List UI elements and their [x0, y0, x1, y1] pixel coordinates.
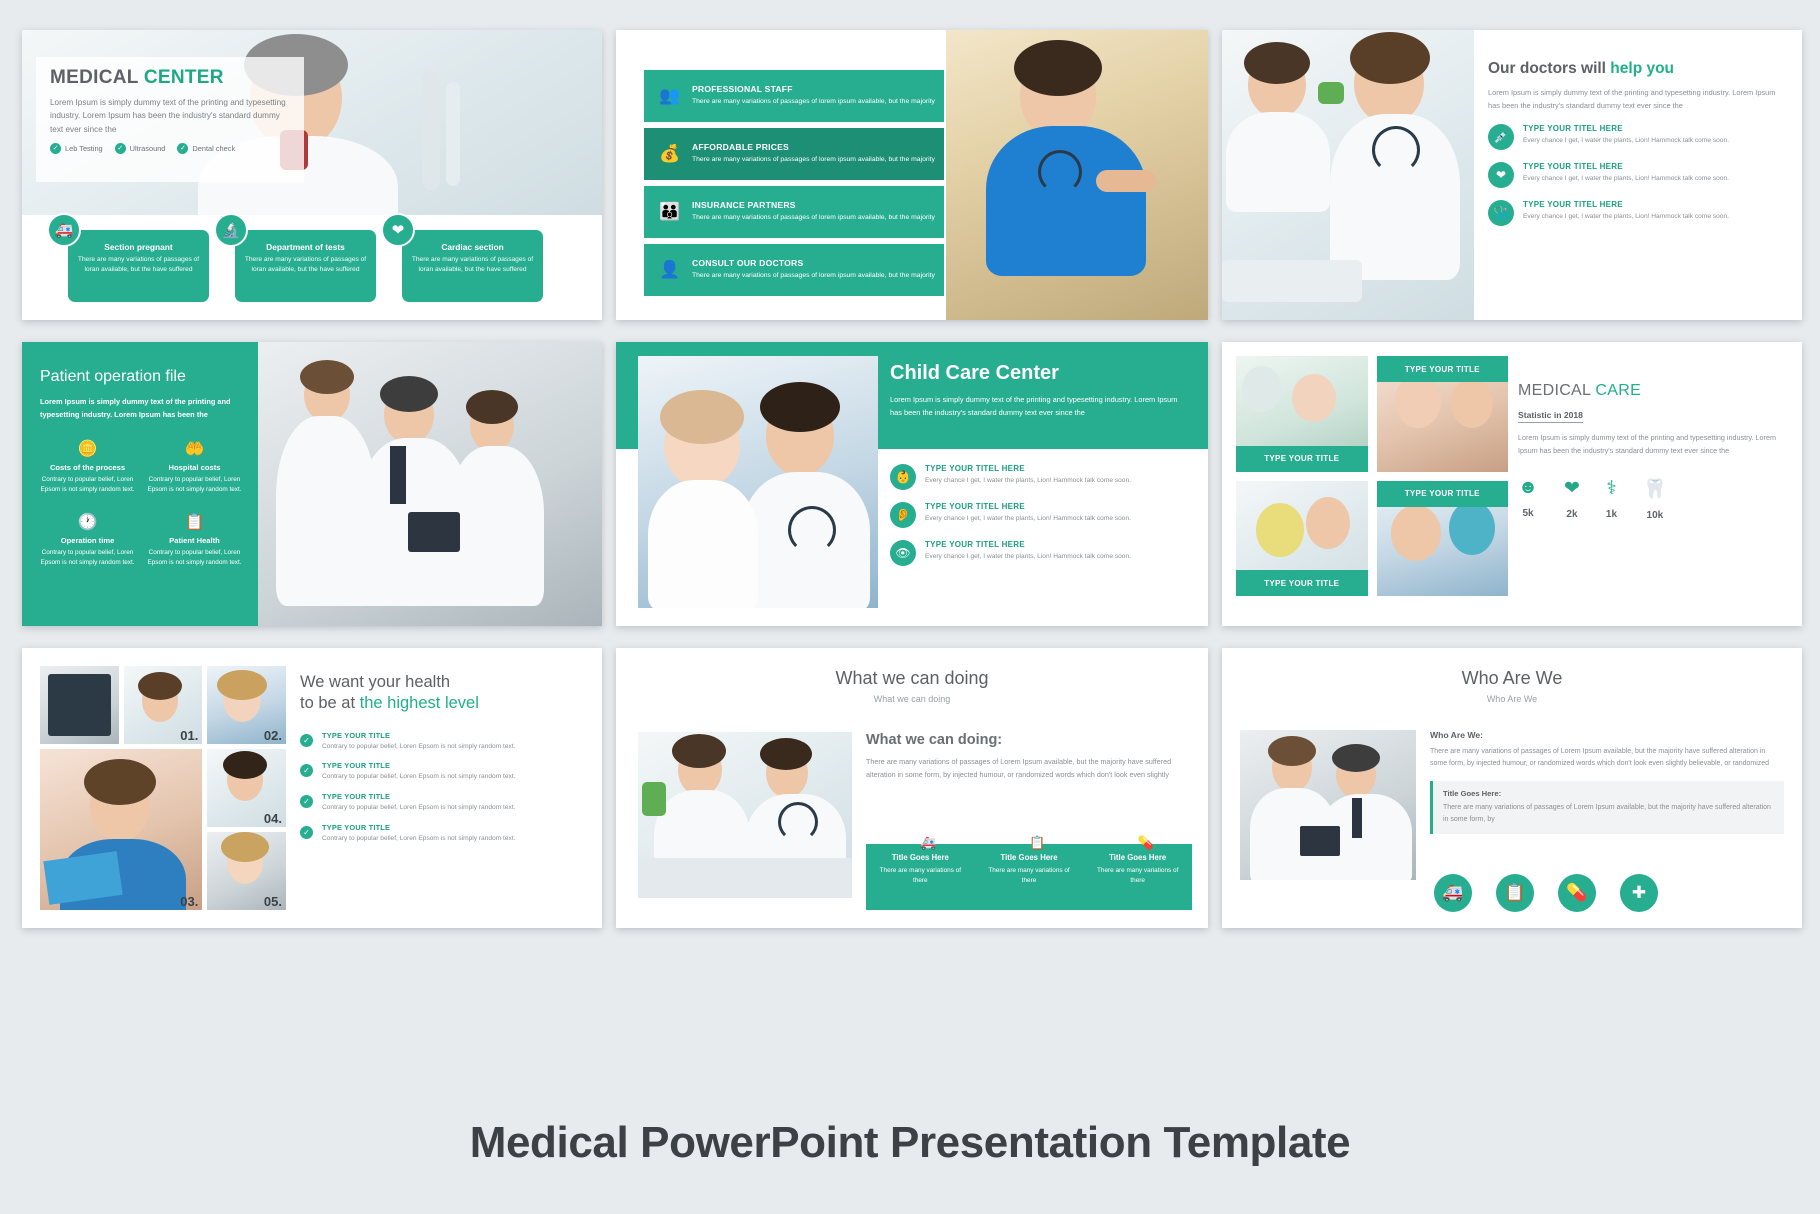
mosaic-number: 04.	[264, 811, 282, 826]
check-icon: ✓	[177, 143, 188, 154]
slide9-icon-row: 🚑 📋 💊 ✚	[1434, 874, 1658, 912]
stat-value: 10k	[1647, 510, 1664, 521]
card-title: Title Goes Here	[1089, 853, 1186, 862]
first-aid-icon[interactable]: ✚	[1620, 874, 1658, 912]
check-icon: ✓	[300, 795, 313, 808]
stat-item: ❤ 2k	[1564, 477, 1580, 523]
item-body: Every chance I get, I water the plants, …	[1523, 174, 1729, 185]
child-face-icon: ☻	[1518, 477, 1538, 499]
clock-icon: 🕐	[40, 512, 135, 532]
quote-body: There are many variations of passages of…	[1443, 802, 1774, 826]
slide5-photo	[638, 356, 878, 608]
slide1-card[interactable]: 🚑 Section pregnant There are many variat…	[68, 230, 209, 302]
mosaic-number: 01.	[180, 728, 198, 743]
item-body: Every chance I get, I water the plants, …	[925, 552, 1131, 563]
slide1-check-item: ✓Ultrasound	[115, 143, 166, 154]
slide4-title: Patient operation file	[40, 368, 242, 386]
slide-grid: MEDICAL CENTER Lorem Ipsum is simply dum…	[22, 30, 1798, 928]
slide2-bar-item[interactable]: 👥 PROFESSIONAL STAFF There are many vari…	[644, 70, 944, 122]
eye-icon: 👁	[890, 540, 916, 566]
heart-pulse-icon: ❤	[1488, 162, 1514, 188]
syringe-icon: 💉	[1488, 124, 1514, 150]
slide-medical-center[interactable]: MEDICAL CENTER Lorem Ipsum is simply dum…	[22, 30, 602, 320]
slide4-item[interactable]: 🕐 Operation time Contrary to popular bel…	[40, 512, 135, 569]
gallery-tile[interactable]: TYPE YOUR TITLE	[1377, 356, 1509, 472]
heart-pulse-icon: ❤	[1564, 477, 1580, 500]
pills-icon[interactable]: 💊	[1558, 874, 1596, 912]
item-title: TYPE YOUR TITLE	[322, 731, 516, 740]
family-umbrella-icon: 👪	[654, 196, 686, 228]
slide2-bar-item[interactable]: 👤 CONSULT OUR DOCTORS There are many var…	[644, 244, 944, 296]
mosaic-tile[interactable]: 01.	[124, 666, 203, 744]
bar-body: There are many variations of passages of…	[692, 155, 935, 165]
footer-title: Medical PowerPoint Presentation Template	[0, 1118, 1820, 1168]
hand-money-icon: 🤲	[147, 439, 242, 459]
slide1-card-row: 🚑 Section pregnant There are many variat…	[68, 230, 543, 302]
slide-patient-operation-file[interactable]: Patient operation file Lorem Ipsum is si…	[22, 342, 602, 626]
stat-item: 🦷 10k	[1643, 477, 1667, 523]
item-body: Contrary to popular belief, Loren Epsom …	[322, 742, 516, 753]
slide1-title: MEDICAL CENTER	[50, 67, 304, 89]
item-body: Every chance I get, I water the plants, …	[1523, 212, 1729, 223]
card-body: There are many variations of passages of…	[77, 255, 200, 275]
slide9-title: Who Are We	[1222, 668, 1802, 689]
slide6-body: Lorem Ipsum is simply dummy text of the …	[1518, 432, 1784, 457]
mosaic-number: 05.	[264, 894, 282, 909]
gallery-caption: TYPE YOUR TITLE	[1236, 570, 1368, 596]
slide8-photo	[638, 732, 852, 898]
slide2-photo	[946, 30, 1208, 320]
slide8-title: What we can doing	[616, 668, 1208, 689]
slide3-list-item[interactable]: 💉 TYPE YOUR TITEL HERE Every chance I ge…	[1488, 124, 1786, 150]
slide5-list-item[interactable]: 👁 TYPE YOUR TITEL HERE Every chance I ge…	[890, 540, 1190, 566]
slide4-item[interactable]: 🪙 Costs of the process Contrary to popul…	[40, 439, 135, 496]
slide9-body: There are many variations of passages of…	[1430, 746, 1784, 770]
slide9-photo	[1240, 730, 1416, 880]
slide-services-bars[interactable]: 👥 PROFESSIONAL STAFF There are many vari…	[616, 30, 1208, 320]
slide5-header: Child Care Center Lorem Ipsum is simply …	[890, 362, 1188, 419]
item-title: TYPE YOUR TITEL HERE	[925, 502, 1131, 511]
ambulance-icon: 🚑	[920, 835, 936, 851]
bar-body: There are many variations of passages of…	[692, 271, 935, 281]
slide6-gallery: TYPE YOUR TITLE TYPE YOUR TITLE TYPE YOU…	[1236, 356, 1508, 596]
quote-title: Title Goes Here:	[1443, 789, 1774, 798]
money-bag-icon: 💰	[654, 138, 686, 170]
slide-who-are-we[interactable]: Who Are We Who Are We Who Are We: There …	[1222, 648, 1802, 928]
slide-highest-level[interactable]: 01. 02. 03. 04. 05.	[22, 648, 602, 928]
slide7-title: We want your health to be at the highest…	[300, 672, 586, 715]
item-body: Contrary to popular belief, Loren Epsom …	[147, 548, 242, 569]
slide5-title: Child Care Center	[890, 362, 1188, 385]
coins-icon: 🪙	[40, 439, 135, 459]
ambulance-icon: 🚑	[47, 213, 81, 247]
slide3-list-item[interactable]: 🩺 TYPE YOUR TITEL HERE Every chance I ge…	[1488, 200, 1786, 226]
card-body: There are many variations of passages of…	[244, 255, 367, 275]
slide4-item[interactable]: 📋 Patient Health Contrary to popular bel…	[147, 512, 242, 569]
item-body: Contrary to popular belief, Loren Epsom …	[40, 475, 135, 496]
bar-title: CONSULT OUR DOCTORS	[692, 258, 935, 268]
slide8-text: What we can doing: There are many variat…	[866, 732, 1188, 781]
slide7-text-panel: We want your health to be at the highest…	[300, 672, 586, 853]
slide3-body: Lorem Ipsum is simply dummy text of the …	[1488, 87, 1786, 112]
check-icon: ✓	[115, 143, 126, 154]
check-icon: ✓	[300, 826, 313, 839]
item-body: Contrary to popular belief, Loren Epsom …	[322, 772, 516, 783]
slide9-heading: Who Are We:	[1430, 730, 1784, 740]
stat-item: ☻ 5k	[1518, 477, 1538, 523]
tooth-icon: 🦷	[1643, 477, 1667, 501]
test-search-icon: 🔬	[214, 213, 248, 247]
slide4-panel: Patient operation file Lorem Ipsum is si…	[22, 342, 258, 626]
slide5-list: 👶 TYPE YOUR TITEL HERE Every chance I ge…	[890, 464, 1190, 578]
gallery-caption: TYPE YOUR TITLE	[1377, 481, 1509, 507]
slide8-body: There are many variations of passages of…	[866, 756, 1188, 781]
item-body: Every chance I get, I water the plants, …	[925, 476, 1131, 487]
slide-our-doctors[interactable]: Our doctors will help you Lorem Ipsum is…	[1222, 30, 1802, 320]
bar-title: AFFORDABLE PRICES	[692, 142, 935, 152]
bar-title: PROFESSIONAL STAFF	[692, 84, 935, 94]
mosaic-tile[interactable]	[40, 666, 119, 744]
slide1-text-panel: MEDICAL CENTER Lorem Ipsum is simply dum…	[36, 57, 304, 182]
slide3-text-panel: Our doctors will help you Lorem Ipsum is…	[1488, 60, 1786, 238]
doctor-plus-icon: 👤	[654, 254, 686, 286]
slide9-quote-box: Title Goes Here: There are many variatio…	[1430, 781, 1784, 834]
slide-child-care-center[interactable]: Child Care Center Lorem Ipsum is simply …	[616, 342, 1208, 626]
clipboard-icon: 📋	[147, 512, 242, 532]
slide9-subtitle: Who Are We	[1222, 694, 1802, 704]
item-title: TYPE YOUR TITLE	[322, 792, 516, 801]
slide1-check-list: ✓Leb Testing ✓Ultrasound ✓Dental check	[50, 143, 304, 154]
slide1-check-item: ✓Dental check	[177, 143, 235, 154]
slide8-card-row: 🚑 Title Goes Here There are many variati…	[866, 844, 1192, 910]
check-icon: ✓	[300, 734, 313, 747]
slide6-stats: ☻ 5k ❤ 2k ⚕ 1k 🦷 10k	[1518, 477, 1784, 523]
check-icon: ✓	[50, 143, 61, 154]
mosaic-tile[interactable]: 05.	[207, 832, 286, 910]
slide7-mosaic: 01. 02. 03. 04. 05.	[40, 666, 286, 910]
gallery-caption: TYPE YOUR TITLE	[1236, 446, 1368, 472]
slide4-photo	[258, 342, 602, 626]
slide6-title: MEDICAL CARE	[1518, 382, 1784, 400]
mosaic-number: 03.	[180, 894, 198, 909]
slide2-bar-list: 👥 PROFESSIONAL STAFF There are many vari…	[644, 70, 944, 302]
card-title: Section pregnant	[77, 242, 200, 252]
card-title: Department of tests	[244, 242, 367, 252]
slide9-text: Who Are We: There are many variations of…	[1430, 730, 1784, 834]
item-body: Every chance I get, I water the plants, …	[1523, 136, 1729, 147]
slide2-bar-item[interactable]: 💰 AFFORDABLE PRICES There are many varia…	[644, 128, 944, 180]
slide-what-we-can-doing[interactable]: What we can doing What we can doing What…	[616, 648, 1208, 928]
item-title: TYPE YOUR TITLE	[322, 761, 516, 770]
item-title: Costs of the process	[40, 463, 135, 472]
bar-title: INSURANCE PARTNERS	[692, 200, 935, 210]
check-icon: ✓	[300, 764, 313, 777]
slide6-subtitle: Statistic in 2018	[1518, 410, 1583, 423]
stat-item: ⚕ 1k	[1606, 477, 1617, 523]
slide3-list-item[interactable]: ❤ TYPE YOUR TITEL HERE Every chance I ge…	[1488, 162, 1786, 188]
item-title: TYPE YOUR TITEL HERE	[1523, 124, 1729, 133]
baby-icon: 👶	[890, 464, 916, 490]
item-title: Operation time	[40, 536, 135, 545]
mosaic-tile[interactable]: 04.	[207, 749, 286, 827]
item-body: Contrary to popular belief, Loren Epsom …	[147, 475, 242, 496]
stat-value: 1k	[1606, 509, 1617, 520]
ear-icon: 👂	[890, 502, 916, 528]
slide8-card[interactable]: 📋 Title Goes Here There are many variati…	[975, 844, 1084, 910]
item-title: TYPE YOUR TITEL HERE	[925, 540, 1131, 549]
slide8-card[interactable]: 💊 Title Goes Here There are many variati…	[1083, 844, 1192, 910]
slide7-item[interactable]: ✓ TYPE YOUR TITLE Contrary to popular be…	[300, 761, 586, 783]
gallery-tile[interactable]: TYPE YOUR TITLE	[1236, 481, 1368, 597]
slide2-bar-item[interactable]: 👪 INSURANCE PARTNERS There are many vari…	[644, 186, 944, 238]
card-title: Cardiac section	[411, 242, 534, 252]
card-body: There are many variations of there	[981, 866, 1078, 887]
slide1-body: Lorem Ipsum is simply dummy text of the …	[50, 96, 290, 136]
presentation-preview-board: MEDICAL CENTER Lorem Ipsum is simply dum…	[0, 0, 1820, 1214]
gallery-tile[interactable]: TYPE YOUR TITLE	[1236, 356, 1368, 472]
item-title: Patient Health	[147, 536, 242, 545]
slide8-header: What we can doing What we can doing	[616, 648, 1208, 704]
bar-body: There are many variations of passages of…	[692, 97, 935, 107]
gallery-tile[interactable]: TYPE YOUR TITLE	[1377, 481, 1509, 597]
slide5-list-item[interactable]: 👶 TYPE YOUR TITEL HERE Every chance I ge…	[890, 464, 1190, 490]
mosaic-tile[interactable]: 02.	[207, 666, 286, 744]
item-body: Every chance I get, I water the plants, …	[925, 514, 1131, 525]
item-title: TYPE YOUR TITEL HERE	[925, 464, 1131, 473]
slide4-body: Lorem Ipsum is simply dummy text of the …	[40, 396, 242, 421]
slide1-check-item: ✓Leb Testing	[50, 143, 103, 154]
slide7-item[interactable]: ✓ TYPE YOUR TITLE Contrary to popular be…	[300, 823, 586, 845]
clipboard-icon: 📋	[1029, 835, 1045, 851]
stat-value: 2k	[1566, 509, 1577, 520]
slide5-list-item[interactable]: 👂 TYPE YOUR TITEL HERE Every chance I ge…	[890, 502, 1190, 528]
slide1-card[interactable]: ❤ Cardiac section There are many variati…	[402, 230, 543, 302]
card-body: There are many variations of there	[872, 866, 969, 887]
physiotherapy-icon: ⚕	[1606, 477, 1617, 500]
slide4-item-grid: 🪙 Costs of the process Contrary to popul…	[40, 439, 242, 568]
item-title: TYPE YOUR TITEL HERE	[1523, 200, 1729, 209]
stat-value: 5k	[1522, 508, 1533, 519]
mosaic-tile[interactable]: 03.	[40, 749, 202, 910]
slide4-item[interactable]: 🤲 Hospital costs Contrary to popular bel…	[147, 439, 242, 496]
slide5-body: Lorem Ipsum is simply dummy text of the …	[890, 394, 1188, 419]
slide6-text-panel: MEDICAL CARE Statistic in 2018 Lorem Ips…	[1518, 382, 1784, 523]
pills-icon: 💊	[1138, 835, 1154, 851]
slide1-card[interactable]: 🔬 Department of tests There are many var…	[235, 230, 376, 302]
gallery-caption: TYPE YOUR TITLE	[1377, 356, 1509, 382]
card-body: There are many variations of there	[1089, 866, 1186, 887]
card-title: Title Goes Here	[981, 853, 1078, 862]
item-title: TYPE YOUR TITEL HERE	[1523, 162, 1729, 171]
slide7-item[interactable]: ✓ TYPE YOUR TITLE Contrary to popular be…	[300, 731, 586, 753]
group-refresh-icon: 👥	[654, 80, 686, 112]
slide8-card[interactable]: 🚑 Title Goes Here There are many variati…	[866, 844, 975, 910]
slide3-photo	[1222, 30, 1474, 320]
slide3-title: Our doctors will help you	[1488, 60, 1786, 78]
stethoscope-icon: 🩺	[1488, 200, 1514, 226]
slide9-header: Who Are We Who Are We	[1222, 648, 1802, 704]
mosaic-number: 02.	[264, 728, 282, 743]
item-body: Contrary to popular belief, Loren Epsom …	[322, 803, 516, 814]
slide-medical-care[interactable]: TYPE YOUR TITLE TYPE YOUR TITLE TYPE YOU…	[1222, 342, 1802, 626]
item-title: TYPE YOUR TITLE	[322, 823, 516, 832]
ambulance-icon[interactable]: 🚑	[1434, 874, 1472, 912]
slide7-item[interactable]: ✓ TYPE YOUR TITLE Contrary to popular be…	[300, 792, 586, 814]
slide8-subtitle: What we can doing	[616, 694, 1208, 704]
card-title: Title Goes Here	[872, 853, 969, 862]
slide8-heading: What we can doing:	[866, 732, 1188, 748]
item-title: Hospital costs	[147, 463, 242, 472]
bar-body: There are many variations of passages of…	[692, 213, 935, 223]
card-body: There are many variations of passages of…	[411, 255, 534, 275]
heart-pills-icon: ❤	[381, 213, 415, 247]
clipboard-icon[interactable]: 📋	[1496, 874, 1534, 912]
item-body: Contrary to popular belief, Loren Epsom …	[322, 834, 516, 845]
item-body: Contrary to popular belief, Loren Epsom …	[40, 548, 135, 569]
